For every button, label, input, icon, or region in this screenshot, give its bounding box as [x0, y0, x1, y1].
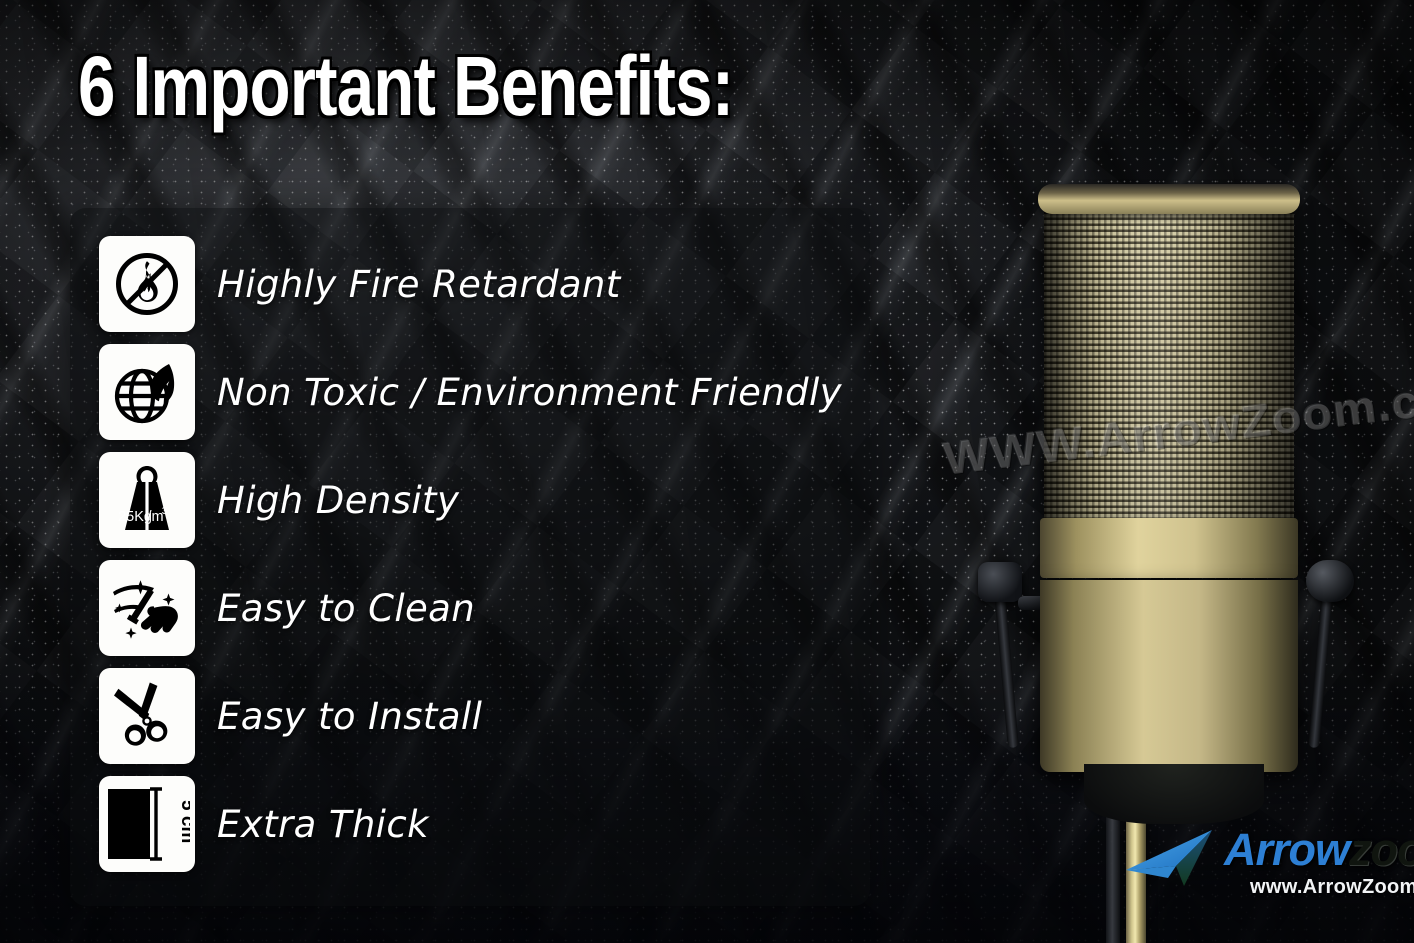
list-item: 5 cm Extra Thick: [99, 776, 859, 872]
list-item: Easy to Install: [99, 668, 859, 764]
benefit-label: Highly Fire Retardant: [217, 263, 621, 306]
shockmount-knob-right: [1306, 560, 1354, 602]
page-title: 6 Important Benefits:: [78, 44, 733, 130]
globe-leaf-icon: [99, 344, 195, 440]
brand-word-arrow: Arrow: [1224, 824, 1349, 875]
list-item: 25Kg /m 3 High Density: [99, 452, 859, 548]
cleaning-hand-sparkle-icon: [99, 560, 195, 656]
arrow-paper-plane-icon: [1124, 826, 1236, 888]
brand-url[interactable]: www.ArrowZoom.com: [1250, 876, 1414, 899]
benefit-label: Extra Thick: [217, 803, 429, 846]
brand-logo[interactable]: Arrowzoom www.ArrowZoom.com: [1124, 822, 1410, 914]
mic-mesh-shading: [1044, 196, 1294, 526]
list-item: Non Toxic / Environment Friendly: [99, 344, 859, 440]
benefits-list: Highly Fire Retardant Non Toxic / Enviro…: [99, 236, 859, 872]
thickness-5cm-icon: 5 cm: [99, 776, 195, 872]
brand-wordmark: Arrowzoom: [1224, 824, 1414, 876]
mic-top-rim: [1038, 184, 1300, 214]
benefit-label: High Density: [217, 479, 459, 522]
shockmount-knob-left: [978, 562, 1022, 602]
weight-density-icon: 25Kg /m 3: [99, 452, 195, 548]
mic-grille: [1044, 196, 1294, 526]
list-item: Easy to Clean: [99, 560, 859, 656]
weight-value-sup: 3: [162, 506, 168, 517]
mic-body: [1044, 196, 1294, 716]
list-item: Highly Fire Retardant: [99, 236, 859, 332]
mic-lower-body: [1040, 580, 1298, 772]
brand-word-zoom: zoom: [1349, 824, 1414, 875]
benefit-label: Non Toxic / Environment Friendly: [217, 371, 842, 414]
benefit-label: Easy to Install: [217, 695, 482, 738]
mic-base-shadow: [1084, 764, 1264, 824]
no-fire-icon: [99, 236, 195, 332]
thickness-value: 5 cm: [177, 800, 190, 843]
promo-image: 6 Important Benefits: Highly Fire Retard…: [0, 0, 1414, 943]
benefit-label: Easy to Clean: [217, 587, 475, 630]
mic-collar: [1040, 518, 1298, 578]
scissors-icon: [99, 668, 195, 764]
